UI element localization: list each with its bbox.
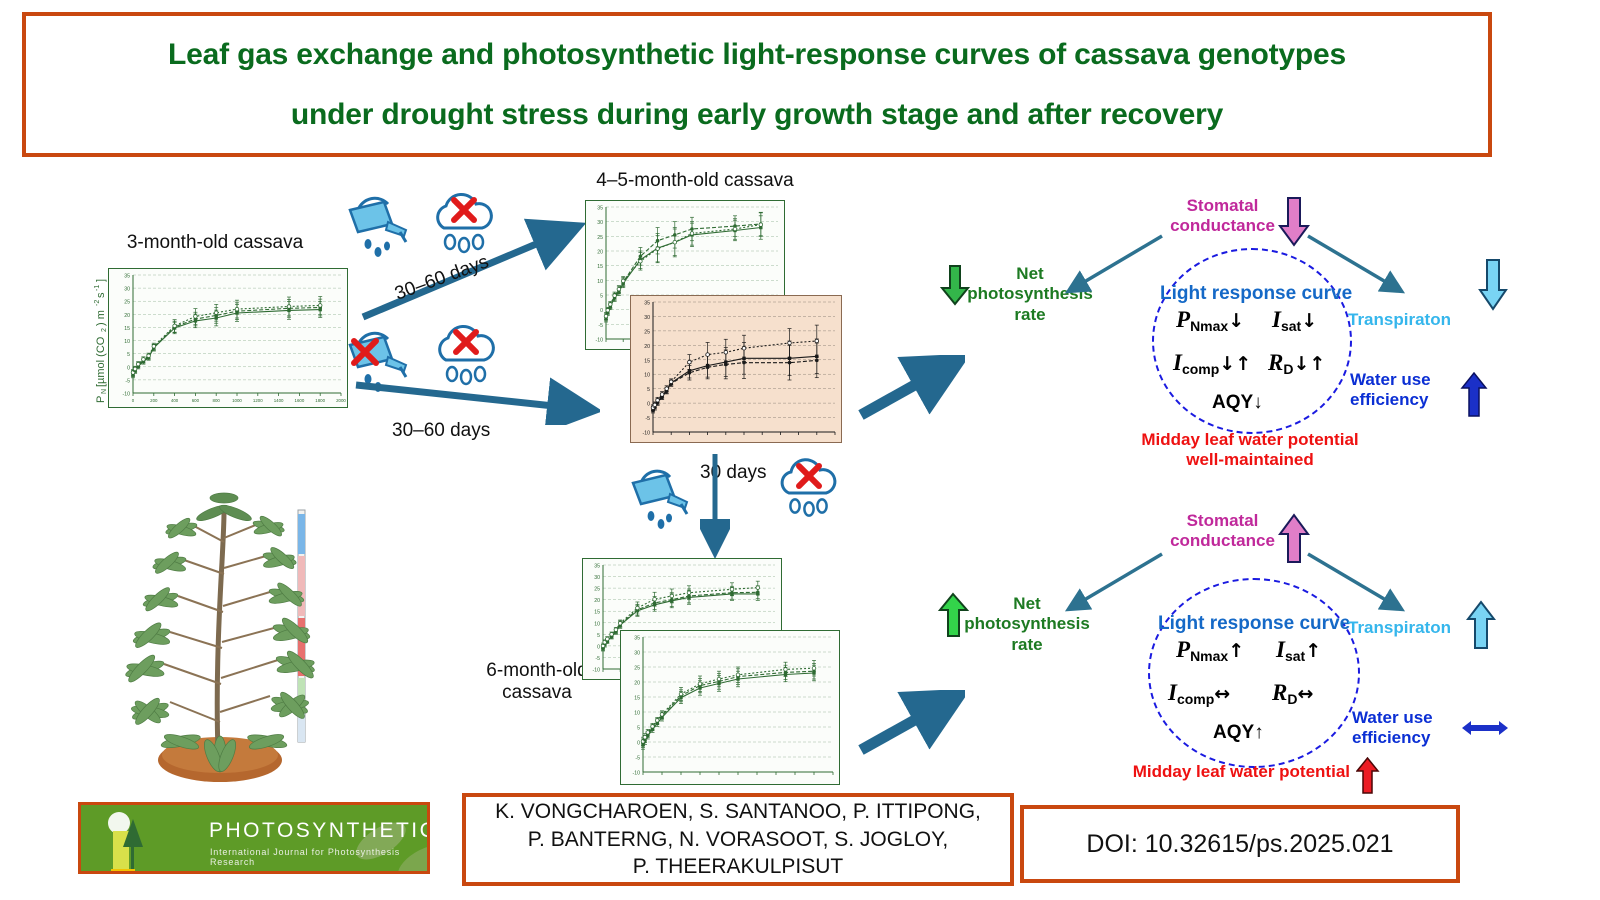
svg-text:1200: 1200: [253, 398, 263, 403]
svg-text:20: 20: [644, 344, 650, 350]
svg-text:15: 15: [594, 610, 600, 616]
param-aqy-trend-top: ↓: [1253, 392, 1263, 413]
authors-line-2: P. BANTERNG, N. VORASOOT, S. JOGLOY,: [495, 826, 981, 854]
stomatal-conductance-line1-bottom: Stomatal: [1170, 511, 1275, 531]
caption-6-month-line-2: cassava: [462, 682, 612, 704]
svg-text:10: 10: [124, 339, 130, 345]
doi-box[interactable]: DOI: 10.32615/ps.2025.021: [1020, 805, 1460, 883]
param-icomp-trend-top: ↓↑: [1219, 353, 1251, 375]
transpiration-down-arrow-top: [1478, 258, 1508, 312]
svg-text:10: 10: [594, 621, 600, 627]
svg-text:30: 30: [597, 220, 603, 226]
svg-text:200: 200: [150, 398, 158, 403]
connector-left-top: [1060, 230, 1170, 300]
param-isat-trend-bottom: ↑: [1305, 640, 1321, 662]
param-pnmax-trend-top: ↓: [1228, 310, 1244, 332]
param-aqy-bottom: AQY↑: [1213, 722, 1264, 744]
cassava-plant-photo: [112, 452, 332, 792]
param-icomp-symbol-top: I: [1173, 350, 1182, 375]
param-isat-bottom: Isat↑: [1276, 637, 1321, 663]
svg-text:10: 10: [597, 279, 603, 285]
svg-text:25: 25: [634, 666, 640, 672]
svg-text:30: 30: [124, 287, 130, 293]
chart-3month-ylabel: P N [µmol (CO 2 ) m -2 s -1 ]: [84, 268, 114, 408]
svg-text:-10: -10: [643, 431, 651, 437]
svg-text:35: 35: [634, 636, 640, 642]
midday-line1-top: Midday leaf water potential: [1105, 430, 1395, 450]
stomatal-conductance-line2-bottom: conductance: [1170, 531, 1275, 551]
svg-text:25: 25: [124, 300, 130, 306]
svg-text:600: 600: [192, 398, 200, 403]
svg-text:-5: -5: [635, 756, 640, 762]
svg-text:25: 25: [594, 587, 600, 593]
light-response-curve-title-bottom: Light response curve: [1158, 613, 1350, 635]
svg-text:5: 5: [637, 726, 640, 732]
arrow-drought: [350, 375, 600, 425]
svg-text:s: s: [95, 292, 107, 298]
svg-text:35: 35: [124, 274, 130, 280]
svg-text:2: 2: [101, 328, 108, 332]
param-isat-top: Isat↓: [1272, 307, 1317, 333]
svg-text:20: 20: [594, 598, 600, 604]
midday-leaf-water-potential-top: Midday leaf water potential well-maintai…: [1105, 430, 1395, 471]
param-rd-sub-top: D: [1283, 361, 1293, 377]
svg-text:]: ]: [95, 279, 107, 282]
param-pnmax-trend-bottom: ↑: [1228, 640, 1244, 662]
svg-text:-5: -5: [125, 378, 130, 384]
param-pnmax-symbol-bottom: P: [1176, 637, 1190, 662]
authors-box: K. VONGCHAROEN, S. SANTANOO, P. ITTIPONG…: [462, 793, 1014, 886]
stomatal-conductance-label-top: Stomatal conductance: [1170, 196, 1275, 237]
water-use-efficiency-label-top: Water use efficiency: [1350, 370, 1460, 411]
svg-text:5: 5: [597, 633, 600, 639]
arrow-to-diagram-bottom: [855, 690, 965, 760]
page-title-line-1: Leaf gas exchange and photosynthetic lig…: [168, 39, 1346, 71]
svg-text:0: 0: [647, 402, 650, 408]
param-isat-sub-top: sat: [1281, 318, 1301, 334]
journal-subtitle: International Journal for Photosynthesis…: [210, 847, 427, 867]
svg-text:5: 5: [647, 387, 650, 393]
midday-line2-top: well-maintained: [1105, 450, 1395, 470]
svg-text:[µmol (CO: [µmol (CO: [95, 336, 107, 387]
param-aqy-top: AQY↓: [1212, 392, 1263, 414]
wue-line2-top: efficiency: [1350, 390, 1460, 410]
param-icomp-sub-top: comp: [1182, 361, 1219, 377]
svg-text:35: 35: [594, 564, 600, 570]
light-response-curve-title-top: Light response curve: [1160, 283, 1352, 305]
param-rd-symbol-top: R: [1268, 350, 1283, 375]
svg-text:25: 25: [644, 329, 650, 335]
param-isat-symbol-top: I: [1272, 307, 1281, 332]
chart-6month-b: -10-505101520253035: [620, 630, 840, 785]
stomatal-conductance-line1-top: Stomatal: [1170, 196, 1275, 216]
param-isat-symbol-bottom: I: [1276, 637, 1285, 662]
svg-text:5: 5: [600, 294, 603, 300]
water-use-efficiency-label-bottom: Water use efficiency: [1352, 708, 1462, 749]
net-photo-line3-top: rate: [965, 305, 1095, 325]
authors-text: K. VONGCHAROEN, S. SANTANOO, P. ITTIPONG…: [495, 798, 981, 881]
svg-text:10: 10: [644, 373, 650, 379]
param-pnmax-sub-top: Nmax: [1190, 318, 1228, 334]
arrow-label-drought: 30–60 days: [392, 420, 490, 442]
water-use-efficiency-unchanged-arrow-bottom: [1460, 718, 1510, 738]
svg-text:0: 0: [132, 398, 135, 403]
svg-text:35: 35: [597, 206, 603, 212]
param-pnmax-sub-bottom: Nmax: [1190, 648, 1228, 664]
param-icomp-top: Icomp↓↑: [1173, 350, 1251, 376]
svg-text:10: 10: [634, 711, 640, 717]
svg-text:0: 0: [597, 644, 600, 650]
page-title-line-2: under drought stress during early growth…: [291, 99, 1223, 131]
svg-text:20: 20: [634, 681, 640, 687]
param-pnmax-bottom: PNmax↑: [1176, 637, 1244, 663]
svg-text:20: 20: [597, 250, 603, 256]
param-rd-symbol-bottom: R: [1272, 680, 1287, 705]
svg-text:30: 30: [644, 315, 650, 321]
transpiration-up-arrow-bottom: [1466, 600, 1496, 650]
param-icomp-symbol-bottom: I: [1168, 680, 1177, 705]
svg-text:30: 30: [634, 651, 640, 657]
svg-text:25: 25: [597, 235, 603, 241]
svg-text:-10: -10: [596, 338, 604, 344]
title-box: Leaf gas exchange and photosynthetic lig…: [22, 12, 1492, 157]
arrow-recovery-down: [700, 450, 730, 560]
svg-text:-10: -10: [593, 668, 601, 674]
wue-line1-bottom: Water use: [1352, 708, 1462, 728]
arrow-to-diagram-top: [855, 355, 965, 425]
param-rd-sub-bottom: D: [1287, 691, 1297, 707]
svg-text:-2: -2: [94, 300, 101, 306]
svg-text:-5: -5: [598, 323, 603, 329]
svg-text:0: 0: [127, 365, 130, 371]
svg-text:) m: ) m: [95, 310, 107, 326]
svg-text:-10: -10: [123, 392, 131, 398]
svg-text:1000: 1000: [232, 398, 242, 403]
param-rd-bottom: RD↔: [1272, 680, 1313, 706]
param-icomp-sub-bottom: comp: [1177, 691, 1214, 707]
svg-text:800: 800: [213, 398, 221, 403]
chart-45month-drought: -10-505101520253035: [630, 295, 842, 443]
stomatal-conductance-line2-top: conductance: [1170, 216, 1275, 236]
caption-3-month-old-cassava: 3-month-old cassava: [110, 232, 320, 254]
svg-text:0: 0: [600, 308, 603, 314]
param-rd-trend-top: ↓↑: [1293, 353, 1325, 375]
param-rd-top: RD↓↑: [1268, 350, 1325, 376]
svg-text:400: 400: [171, 398, 179, 403]
svg-text:35: 35: [644, 301, 650, 307]
svg-text:20: 20: [124, 313, 130, 319]
svg-text:15: 15: [634, 696, 640, 702]
svg-text:1600: 1600: [295, 398, 305, 403]
connector-left-bottom: [1060, 548, 1170, 618]
caption-4-5-month-old-cassava: 4–5-month-old cassava: [580, 170, 810, 192]
param-aqy-label-top: AQY: [1212, 392, 1253, 413]
param-icomp-trend-bottom: ↔: [1214, 683, 1230, 705]
svg-text:-1: -1: [94, 285, 101, 291]
watering-can-icon-3: [625, 455, 691, 541]
svg-text:5: 5: [127, 352, 130, 358]
param-icomp-bottom: Icomp↔: [1168, 680, 1230, 706]
transpiration-text-top: Transpiraton: [1348, 310, 1451, 329]
chart-3month: -10-505101520253035020040060080010001200…: [108, 268, 348, 408]
param-pnmax-top: PNmax↓: [1176, 307, 1244, 333]
svg-text:-5: -5: [595, 656, 600, 662]
water-use-efficiency-up-arrow-top: [1460, 372, 1488, 418]
param-isat-trend-top: ↓: [1301, 310, 1317, 332]
param-rd-trend-bottom: ↔: [1297, 683, 1313, 705]
svg-text:15: 15: [124, 326, 130, 332]
svg-text:-10: -10: [633, 771, 641, 777]
net-photo-line3-bottom: rate: [962, 635, 1092, 655]
svg-text:-5: -5: [645, 416, 650, 422]
transpiration-label-top: Transpiraton: [1348, 310, 1488, 330]
svg-text:P: P: [95, 396, 107, 403]
doi-text[interactable]: DOI: 10.32615/ps.2025.021: [1086, 830, 1393, 859]
svg-text:30: 30: [594, 575, 600, 581]
rain-cloud-icon-3: [775, 455, 843, 527]
journal-name: PHOTOSYNTHETICA: [209, 819, 430, 843]
stomatal-conductance-label-bottom: Stomatal conductance: [1170, 511, 1275, 552]
authors-line-3: P. THEERAKULPISUT: [495, 853, 981, 881]
svg-text:15: 15: [644, 358, 650, 364]
param-aqy-label-bottom: AQY: [1213, 722, 1254, 743]
svg-text:1800: 1800: [315, 398, 325, 403]
midday-line1-bottom: Midday leaf water potential: [1133, 762, 1350, 781]
midday-leaf-water-potential-bottom: Midday leaf water potential: [1090, 762, 1350, 782]
journal-logo: PHOTOSYNTHETICA International Journal fo…: [78, 802, 430, 874]
svg-text:0: 0: [637, 741, 640, 747]
param-isat-sub-bottom: sat: [1285, 648, 1305, 664]
midday-up-arrow-bottom: [1356, 757, 1380, 795]
svg-text:15: 15: [597, 264, 603, 270]
transpiration-text-bottom: Transpiraton: [1348, 618, 1451, 637]
param-pnmax-symbol-top: P: [1176, 307, 1190, 332]
svg-text:1400: 1400: [274, 398, 284, 403]
param-aqy-trend-bottom: ↑: [1254, 722, 1264, 743]
svg-text:N: N: [101, 389, 108, 394]
wue-line2-bottom: efficiency: [1352, 728, 1462, 748]
authors-line-1: K. VONGCHAROEN, S. SANTANOO, P. ITTIPONG…: [495, 798, 981, 826]
wue-line1-top: Water use: [1350, 370, 1460, 390]
